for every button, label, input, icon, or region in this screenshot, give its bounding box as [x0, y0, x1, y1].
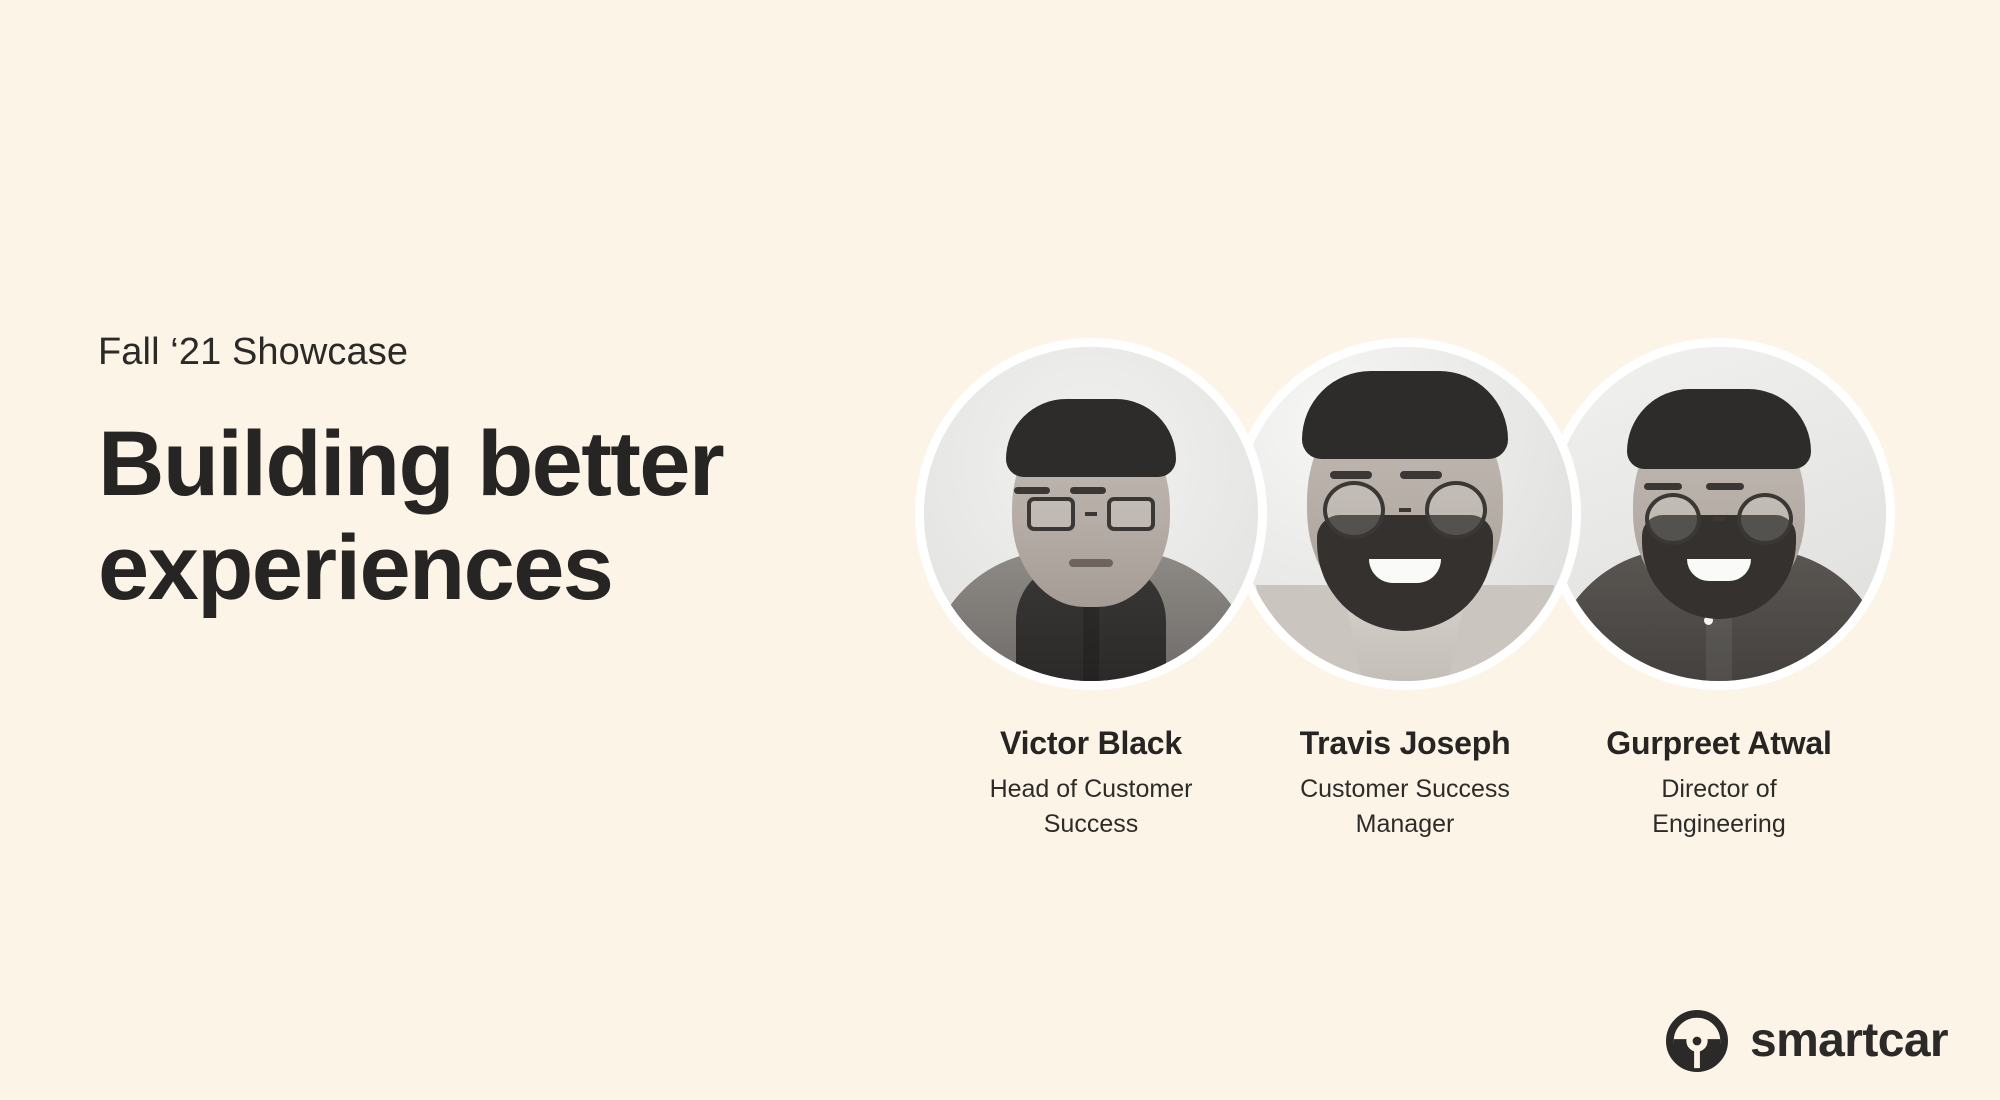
page-title: Building better experiences	[98, 412, 878, 622]
speaker-card-2: Travis Joseph Customer Success Manager	[1229, 338, 1581, 842]
headline-line-2: experiences	[98, 516, 878, 621]
speaker-name: Gurpreet Atwal	[1543, 724, 1895, 762]
speaker-card-3: Gurpreet Atwal Director of Engineering	[1543, 338, 1895, 842]
speaker-list: Victor Black Head of Customer Success	[915, 338, 1915, 858]
avatar-victor-black	[915, 338, 1267, 690]
showcase-slide: Fall ‘21 Showcase Building better experi…	[0, 0, 2000, 1100]
eyebrow-text: Fall ‘21 Showcase	[98, 330, 878, 376]
speaker-role: Director of Engineering	[1594, 772, 1844, 842]
logo-wordmark: smartcar	[1750, 1017, 1948, 1065]
speaker-card-1: Victor Black Head of Customer Success	[915, 338, 1267, 842]
speaker-caption-1: Victor Black Head of Customer Success	[915, 724, 1267, 842]
speaker-caption-3: Gurpreet Atwal Director of Engineering	[1543, 724, 1895, 842]
avatar-gurpreet-atwal	[1543, 338, 1895, 690]
speaker-name: Victor Black	[915, 724, 1267, 762]
portrait-photo-1	[924, 347, 1258, 681]
speaker-role: Head of Customer Success	[966, 772, 1216, 842]
steering-wheel-icon	[1666, 1010, 1728, 1072]
avatar-travis-joseph	[1229, 338, 1581, 690]
speaker-role: Customer Success Manager	[1280, 772, 1530, 842]
headline-block: Fall ‘21 Showcase Building better experi…	[98, 330, 878, 621]
portrait-photo-2	[1238, 347, 1572, 681]
speaker-caption-2: Travis Joseph Customer Success Manager	[1229, 724, 1581, 842]
speaker-name: Travis Joseph	[1229, 724, 1581, 762]
smartcar-logo: smartcar	[1666, 1010, 1948, 1072]
portrait-photo-3	[1552, 347, 1886, 681]
headline-line-1: Building better	[98, 412, 878, 517]
